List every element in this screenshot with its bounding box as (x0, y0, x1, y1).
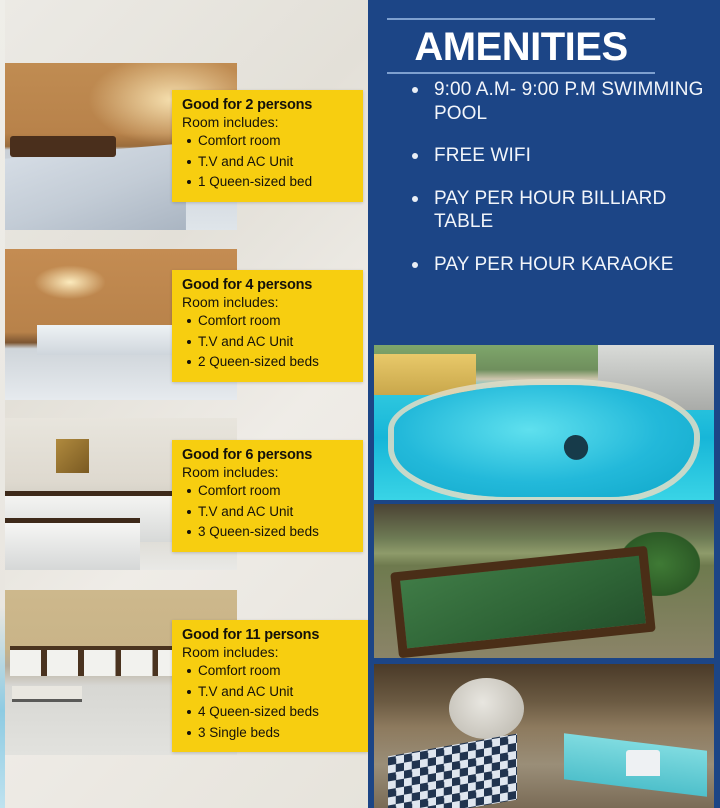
header-rule-top (387, 18, 655, 20)
room-feature-item: T.V and AC Unit (198, 152, 353, 173)
room-feature-list: Comfort room T.V and AC Unit 4 Queen-siz… (182, 661, 358, 743)
room-card-title: Good for 2 persons (182, 97, 353, 113)
room-feature-item: 4 Queen-sized beds (198, 702, 358, 723)
karaoke-patio-photo (374, 664, 714, 808)
room-info-card-4-persons: Good for 4 persons Room includes: Comfor… (172, 270, 363, 382)
room-card-subtitle: Room includes: (182, 294, 353, 310)
room-types-column: Good for 2 persons Room includes: Comfor… (0, 0, 368, 808)
room-feature-list: Comfort room T.V and AC Unit 2 Queen-siz… (182, 311, 353, 373)
amenity-item-karaoke: PAY PER HOUR KARAOKE (410, 253, 710, 277)
room-card-subtitle: Room includes: (182, 114, 353, 130)
room-feature-item: T.V and AC Unit (198, 332, 353, 353)
room-feature-list: Comfort room T.V and AC Unit 3 Queen-siz… (182, 481, 353, 543)
room-info-card-2-persons: Good for 2 persons Room includes: Comfor… (172, 90, 363, 202)
room-feature-item: 2 Queen-sized beds (198, 352, 353, 373)
room-feature-list: Comfort room T.V and AC Unit 1 Queen-siz… (182, 131, 353, 193)
room-card-title: Good for 6 persons (182, 447, 353, 463)
room-info-card-6-persons: Good for 6 persons Room includes: Comfor… (172, 440, 363, 552)
amenities-header: AMENITIES (387, 18, 655, 74)
amenity-item-free-wifi: FREE WIFI (410, 144, 710, 168)
room-feature-item: Comfort room (198, 311, 353, 332)
header-rule-bottom (387, 72, 655, 74)
room-feature-item: 3 Queen-sized beds (198, 522, 353, 543)
amenities-title: AMENITIES (387, 26, 655, 68)
room-card-subtitle: Room includes: (182, 644, 358, 660)
room-feature-item: 3 Single beds (198, 723, 358, 744)
room-card-subtitle: Room includes: (182, 464, 353, 480)
amenities-list: 9:00 A.M- 9:00 P.M SWIMMING POOL FREE WI… (410, 78, 710, 295)
room-card-title: Good for 4 persons (182, 277, 353, 293)
room-info-card-11-persons: Good for 11 persons Room includes: Comfo… (172, 620, 368, 752)
amenities-panel: AMENITIES 9:00 A.M- 9:00 P.M SWIMMING PO… (368, 0, 720, 808)
room-feature-item: 1 Queen-sized bed (198, 172, 353, 193)
billiard-table-photo (374, 504, 714, 658)
amenity-item-swimming-pool: 9:00 A.M- 9:00 P.M SWIMMING POOL (410, 78, 710, 125)
room-feature-item: Comfort room (198, 131, 353, 152)
swimming-pool-photo (374, 345, 714, 500)
room-feature-item: T.V and AC Unit (198, 682, 358, 703)
resort-amenities-poster: Good for 2 persons Room includes: Comfor… (0, 0, 720, 808)
room-card-title: Good for 11 persons (182, 627, 358, 643)
room-feature-item: Comfort room (198, 661, 358, 682)
amenity-item-billiard-table: PAY PER HOUR BILLIARD TABLE (410, 187, 710, 234)
room-feature-item: T.V and AC Unit (198, 502, 353, 523)
room-feature-item: Comfort room (198, 481, 353, 502)
